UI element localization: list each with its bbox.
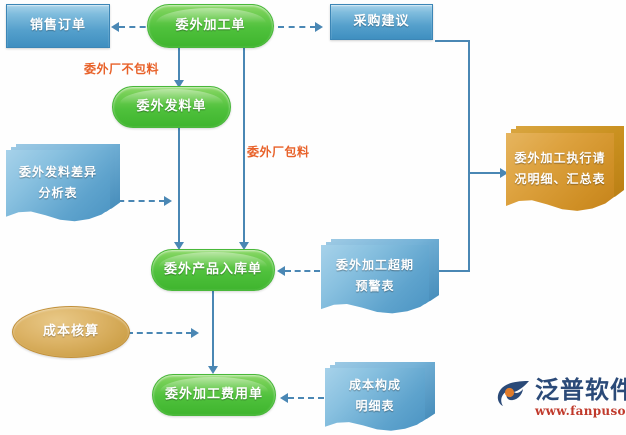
node-variance-report[interactable]: 委外发料差异 分析表 [6,150,110,225]
node-fee-order[interactable]: 委外加工费用单 [152,374,276,416]
fanpu-logo-icon [496,378,532,408]
fanpu-url-text: www.fanpusoft.com [535,404,626,418]
node-sales-order-label: 销售订单 [30,17,86,36]
node-cost-accounting-label: 成本核算 [43,323,99,342]
annotation-no-material: 委外厂不包料 [84,60,159,77]
overdue-warning-line1: 委外加工超期 [336,255,414,276]
edge-structure-to-fee-arrowhead [280,393,288,403]
cost-structure-line1: 成本构成 [349,375,401,396]
exec-report-line2: 况明细、汇总表 [514,169,605,190]
overdue-warning-label: 委外加工超期 预警表 [321,245,429,317]
swoosh-icon [496,380,530,407]
edge-cost-to-fee [127,332,192,334]
edge-cost-to-fee-arrowhead [191,328,199,338]
cost-structure-line2: 明细表 [355,396,394,417]
node-issue-material-label: 委外发料单 [136,98,206,117]
fanpu-watermark-logo: 泛普软件 www.fanpusoft.com [496,378,626,418]
node-cost-structure[interactable]: 成本构成 明细表 [325,368,425,434]
edge-outsourcing-to-issue [178,48,180,83]
node-exec-report[interactable]: 委外加工执行请 况明细、汇总表 [506,133,614,215]
edge-outsourcing-to-sales-arrowhead [111,22,119,32]
node-sales-order[interactable]: 销售订单 [6,4,110,48]
exec-report-line1: 委外加工执行请 [514,148,605,169]
fanpu-brand-text: 泛普软件 [535,378,626,402]
edge-variance-to-receipt-arrowhead [164,196,172,206]
edge-outsourcing-to-purchase-arrowhead [315,22,323,32]
edge-structure-to-fee [288,397,324,399]
node-product-receipt-label: 委外产品入库单 [164,261,262,280]
exec-report-label: 委外加工执行请 况明细、汇总表 [506,133,614,215]
node-fee-order-label: 委外加工费用单 [165,386,263,405]
variance-report-line1: 委外发料差异 [19,162,97,183]
edge-overdue-bus-bottom [436,270,470,272]
node-cost-accounting[interactable]: 成本核算 [12,306,130,358]
node-outsourcing-order[interactable]: 委外加工单 [147,4,274,48]
annotation-with-material: 委外厂包料 [247,143,310,160]
edge-purchase-bus-top [435,40,470,42]
variance-report-line2: 分析表 [38,183,77,204]
edge-outsourcing-to-receipt [243,48,245,245]
cost-structure-label: 成本构成 明细表 [325,368,425,434]
flowchart-canvas: 销售订单 委外加工单 采购建议 委外发料单 委外发料差异 分析表 委外加工执行请… [0,0,626,435]
edge-bus-vertical [468,40,470,272]
node-outsourcing-order-label: 委外加工单 [175,17,245,36]
edge-outsourcing-to-purchase [278,26,316,28]
edge-overdue-to-receipt [285,270,320,272]
variance-report-label: 委外发料差异 分析表 [6,150,110,225]
node-product-receipt[interactable]: 委外产品入库单 [151,249,275,291]
overdue-warning-line2: 预警表 [355,276,394,297]
edge-receipt-to-fee [212,290,214,370]
node-overdue-warning[interactable]: 委外加工超期 预警表 [321,245,429,317]
node-purchase-advice[interactable]: 采购建议 [330,4,433,40]
edge-receipt-to-fee-arrowhead [208,366,218,374]
node-purchase-advice-label: 采购建议 [353,13,409,32]
node-issue-material[interactable]: 委外发料单 [112,86,231,128]
edge-overdue-to-receipt-arrowhead [277,266,285,276]
edge-bus-to-exec [468,172,501,174]
edge-issue-to-receipt [178,128,180,245]
